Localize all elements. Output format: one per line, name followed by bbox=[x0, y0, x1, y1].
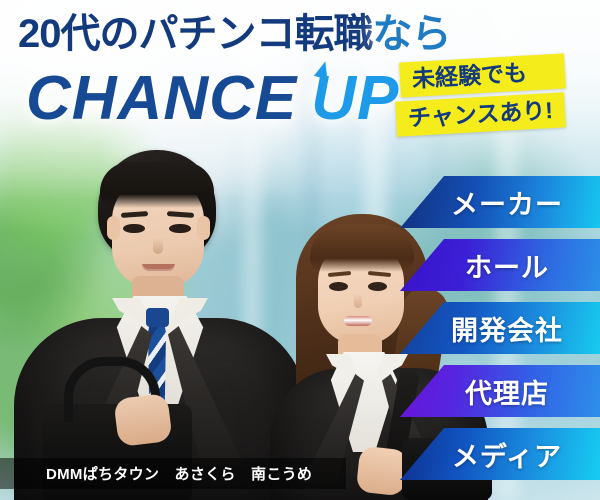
category-label-development-company: 開発会社 bbox=[437, 309, 563, 348]
credit-text: DMMぱちタウン あさくら 南こうめ bbox=[0, 463, 312, 484]
badge-line-2: チャンスあり! bbox=[395, 92, 566, 137]
advertisement-banner[interactable]: 20代のパチンコ転職なら CHANCEUP 未経験でも チャンスあり! メーカー… bbox=[0, 0, 600, 500]
category-label-maker: メーカー bbox=[437, 183, 563, 222]
headline-main: 20代のパチンコ転職 bbox=[18, 12, 373, 56]
badge-line-1: 未経験でも bbox=[399, 53, 566, 97]
category-label-hall: ホール bbox=[451, 246, 549, 285]
category-banner-development-company[interactable]: 開発会社 bbox=[400, 302, 600, 354]
experience-badge: 未経験でも チャンスあり! bbox=[400, 58, 565, 132]
headline-tail: なら bbox=[373, 12, 451, 56]
female-nose bbox=[354, 294, 362, 308]
headline: 20代のパチンコ転職なら bbox=[18, 14, 451, 54]
logo-word-up: UP bbox=[311, 68, 399, 130]
category-banner-hall[interactable]: ホール bbox=[400, 239, 600, 291]
category-banner-media[interactable]: メディア bbox=[400, 428, 600, 480]
male-model-photo bbox=[20, 150, 300, 500]
male-mouth bbox=[142, 264, 175, 271]
category-label-agency: 代理店 bbox=[451, 372, 549, 411]
category-banner-list: メーカー ホール 開発会社 代理店 メディア bbox=[400, 176, 600, 491]
male-eye-left bbox=[123, 224, 145, 233]
category-banner-maker[interactable]: メーカー bbox=[400, 176, 600, 228]
female-hair-fringe bbox=[310, 224, 414, 272]
female-eye-left bbox=[329, 282, 348, 291]
category-label-media: メディア bbox=[438, 435, 562, 474]
male-eye-right bbox=[169, 224, 191, 233]
male-ear-left bbox=[107, 216, 120, 240]
category-banner-agency[interactable]: 代理店 bbox=[400, 365, 600, 417]
male-hand bbox=[113, 393, 172, 447]
male-necktie-knot bbox=[146, 308, 169, 327]
male-nose bbox=[153, 238, 163, 254]
credit-band: DMMぱちタウン あさくら 南こうめ bbox=[0, 458, 346, 489]
logo-word-chance: CHANCE bbox=[26, 64, 297, 133]
female-eye-right bbox=[368, 282, 387, 291]
female-mouth bbox=[344, 316, 372, 326]
brand-logo: CHANCEUP bbox=[26, 68, 399, 130]
male-hair-fringe bbox=[100, 162, 214, 208]
male-ear-right bbox=[197, 216, 210, 240]
